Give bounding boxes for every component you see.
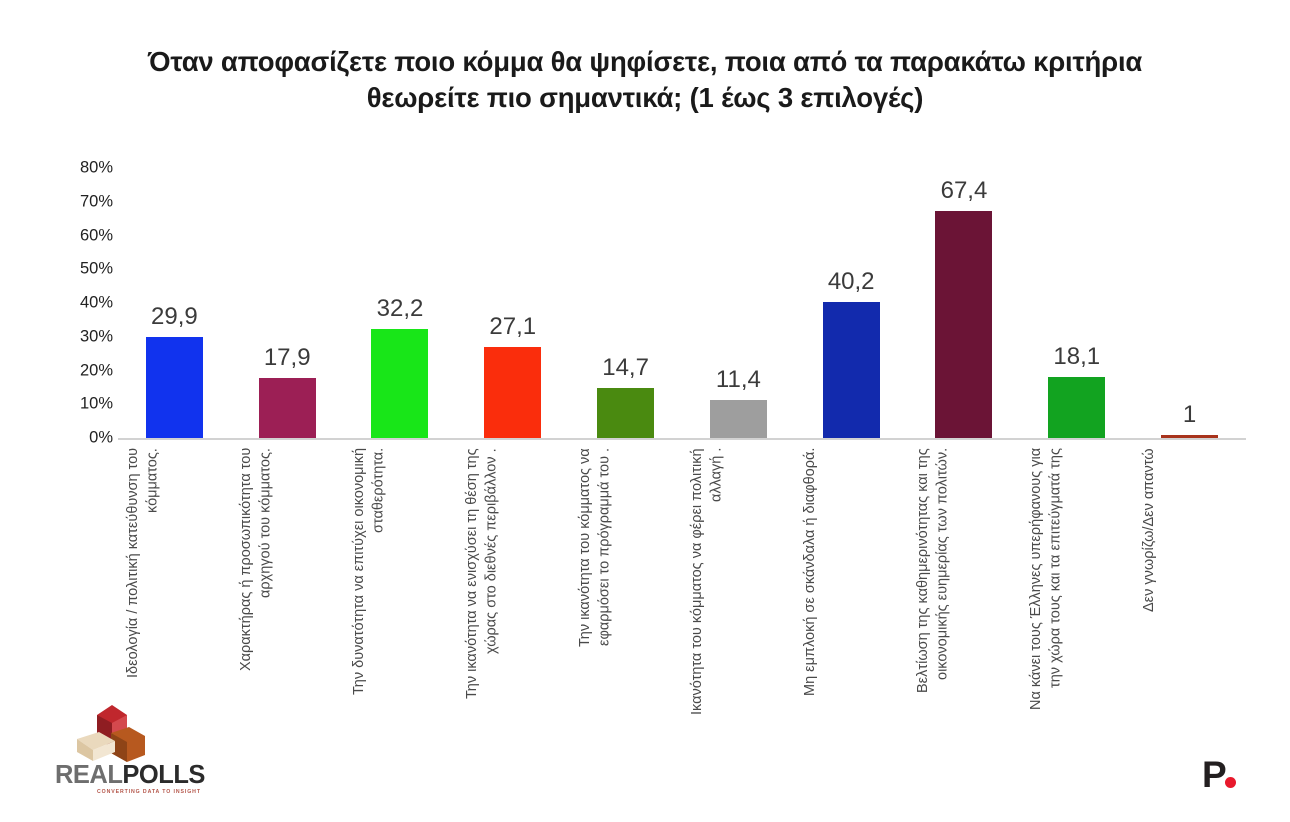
category-label-holder: Να κάνει τους Έλληνες υπερήφανους για τη… [1027,448,1127,716]
bar-value-label: 11,4 [682,366,795,394]
y-axis-tick: 10% [45,395,113,414]
realpolls-real-text: REAL [55,761,122,789]
category-label-holder: Την δυνατότητα να επιτύχει οικονομική στ… [350,448,450,716]
title-line-2: θεωρείτε πιο σημαντικά; (1 έως 3 επιλογέ… [60,80,1230,116]
y-axis-tick: 0% [45,429,113,448]
y-axis-tick: 20% [45,361,113,380]
category-label: Δεν γνωρίζω/Δεν απαντώ [1140,448,1240,716]
category-slot: Ιδεολογία / πολιτική κατεύθυνση του κόμμ… [118,448,231,718]
realpolls-mark-icon [67,705,157,767]
x-axis-line [118,438,1246,440]
bar-value-label: 27,1 [456,313,569,341]
bar[interactable] [371,329,428,438]
category-slot: Χαρακτήρας ή προσωπικότητα του αρχηγού τ… [231,448,344,718]
bar-slot: 14,7 [569,168,682,438]
category-label-holder: Χαρακτήρας ή προσωπικότητα του αρχηγού τ… [237,448,337,716]
bar-value-label: 32,2 [344,295,457,323]
category-label: Μη εμπλοκή σε σκάνδαλα ή διαφθορά. [801,448,901,716]
bar-value-label: 40,2 [795,268,908,296]
bar-slot: 32,2 [344,168,457,438]
bar[interactable] [1048,377,1105,438]
bar[interactable] [259,378,316,438]
realpolls-logo: REALPOLLS CONVERTING DATA TO INSIGHT [55,705,205,805]
bar-value-label: 67,4 [908,177,1021,205]
category-label-holder: Την ικανότητα να ενισχύσει τη θέση της χ… [463,448,563,716]
p-logo: P [1202,760,1248,796]
category-slot: Βελτίωση της καθημερινότητας και της οικ… [908,448,1021,718]
bar-value-label: 14,7 [569,354,682,382]
category-slot: Ικανότητα του κόμματος να φέρει πολιτική… [682,448,795,718]
y-axis: 0%10%20%30%40%50%60%70%80% [45,168,113,438]
bar-value-label: 29,9 [118,303,231,331]
bar-slot: 67,4 [908,168,1021,438]
bar-value-label: 1 [1133,401,1246,429]
bar[interactable] [823,302,880,438]
category-label: Την δυνατότητα να επιτύχει οικονομική στ… [350,448,450,716]
realpolls-polls-text: POLLS [122,761,205,789]
y-axis-tick: 70% [45,192,113,211]
category-slot: Δεν γνωρίζω/Δεν απαντώ [1133,448,1246,718]
bar-slot: 1 [1133,168,1246,438]
bar-value-label: 18,1 [1020,343,1133,371]
category-slot: Την ικανότητα να ενισχύσει τη θέση της χ… [456,448,569,718]
y-axis-tick: 40% [45,294,113,313]
category-slot: Την ικανότητα του κόμματος να εφαρμόσει … [569,448,682,718]
category-label: Ιδεολογία / πολιτική κατεύθυνση του κόμμ… [124,448,224,716]
category-slot: Την δυνατότητα να επιτύχει οικονομική στ… [344,448,457,718]
category-label-holder: Μη εμπλοκή σε σκάνδαλα ή διαφθορά. [801,448,901,716]
bar-slot: 17,9 [231,168,344,438]
bar-series: 29,917,932,227,114,711,440,267,418,11 [118,168,1246,438]
bar[interactable] [1161,435,1218,438]
category-label: Την ικανότητα να ενισχύσει τη θέση της χ… [463,448,563,716]
bar-slot: 18,1 [1020,168,1133,438]
category-label-holder: Ικανότητα του κόμματος να φέρει πολιτική… [688,448,788,716]
category-label-holder: Βελτίωση της καθημερινότητας και της οικ… [914,448,1014,716]
bar[interactable] [597,388,654,438]
category-label-holder: Ιδεολογία / πολιτική κατεύθυνση του κόμμ… [124,448,224,716]
category-slot: Να κάνει τους Έλληνες υπερήφανους για τη… [1020,448,1133,718]
y-axis-tick: 80% [45,159,113,178]
p-logo-dot-icon [1225,777,1236,788]
category-label-holder: Δεν γνωρίζω/Δεν απαντώ [1140,448,1240,716]
bar[interactable] [935,211,992,438]
title-line-1: Όταν αποφασίζετε ποιο κόμμα θα ψηφίσετε,… [60,44,1230,80]
bar[interactable] [710,400,767,438]
category-label-holder: Την ικανότητα του κόμματος να εφαρμόσει … [576,448,676,716]
bar-slot: 11,4 [682,168,795,438]
bar-slot: 27,1 [456,168,569,438]
category-slot: Μη εμπλοκή σε σκάνδαλα ή διαφθορά. [795,448,908,718]
page-title: Όταν αποφασίζετε ποιο κόμμα θα ψηφίσετε,… [60,44,1230,117]
category-label: Βελτίωση της καθημερινότητας και της οικ… [914,448,1014,716]
plot-area: 0%10%20%30%40%50%60%70%80% 29,917,932,22… [0,168,1290,448]
realpolls-tagline: CONVERTING DATA TO INSIGHT [97,789,201,795]
bar-slot: 40,2 [795,168,908,438]
bar[interactable] [146,337,203,438]
realpolls-wordmark: REALPOLLS [55,763,205,789]
category-label: Την ικανότητα του κόμματος να εφαρμόσει … [576,448,676,716]
y-axis-tick: 60% [45,226,113,245]
category-label: Χαρακτήρας ή προσωπικότητα του αρχηγού τ… [237,448,337,716]
bar-slot: 29,9 [118,168,231,438]
p-logo-letter: P [1202,756,1227,793]
category-label: Ικανότητα του κόμματος να φέρει πολιτική… [688,448,788,716]
y-axis-tick: 50% [45,260,113,279]
category-label: Να κάνει τους Έλληνες υπερήφανους για τη… [1027,448,1127,716]
bar-value-label: 17,9 [231,344,344,372]
y-axis-tick: 30% [45,327,113,346]
category-labels: Ιδεολογία / πολιτική κατεύθυνση του κόμμ… [118,448,1246,718]
chart-page: Όταν αποφασίζετε ποιο κόμμα θα ψηφίσετε,… [0,0,1290,822]
bar[interactable] [484,347,541,438]
